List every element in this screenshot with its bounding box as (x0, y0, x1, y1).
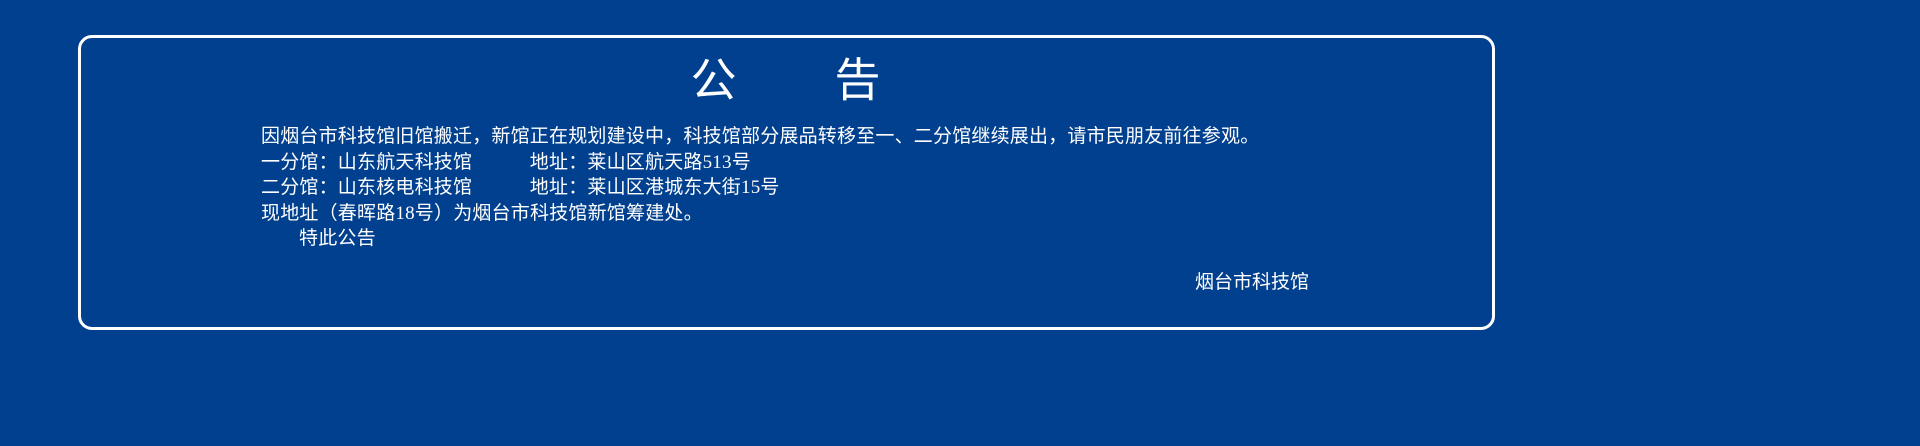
announcement-banner: 公 告 因烟台市科技馆旧馆搬迁，新馆正在规划建设中，科技馆部分展品转移至一、二分… (0, 0, 1920, 446)
notice-closing: 特此公告 (261, 226, 1472, 252)
notice-current-address: 现地址（春晖路18号）为烟台市科技馆新馆筹建处。 (261, 201, 1472, 227)
notice-branch-one: 一分馆：山东航天科技馆 地址：莱山区航天路513号 (261, 150, 1472, 176)
page-title: 公 告 (81, 54, 1492, 108)
notice-branch-two: 二分馆：山东核电科技馆 地址：莱山区港城东大街15号 (261, 175, 1472, 201)
notice-frame-border: 公 告 因烟台市科技馆旧馆搬迁，新馆正在规划建设中，科技馆部分展品转移至一、二分… (78, 35, 1495, 330)
notice-signature: 烟台市科技馆 (81, 270, 1309, 296)
notice-body: 因烟台市科技馆旧馆搬迁，新馆正在规划建设中，科技馆部分展品转移至一、二分馆继续展… (261, 124, 1472, 252)
notice-paragraph-intro: 因烟台市科技馆旧馆搬迁，新馆正在规划建设中，科技馆部分展品转移至一、二分馆继续展… (261, 124, 1472, 150)
